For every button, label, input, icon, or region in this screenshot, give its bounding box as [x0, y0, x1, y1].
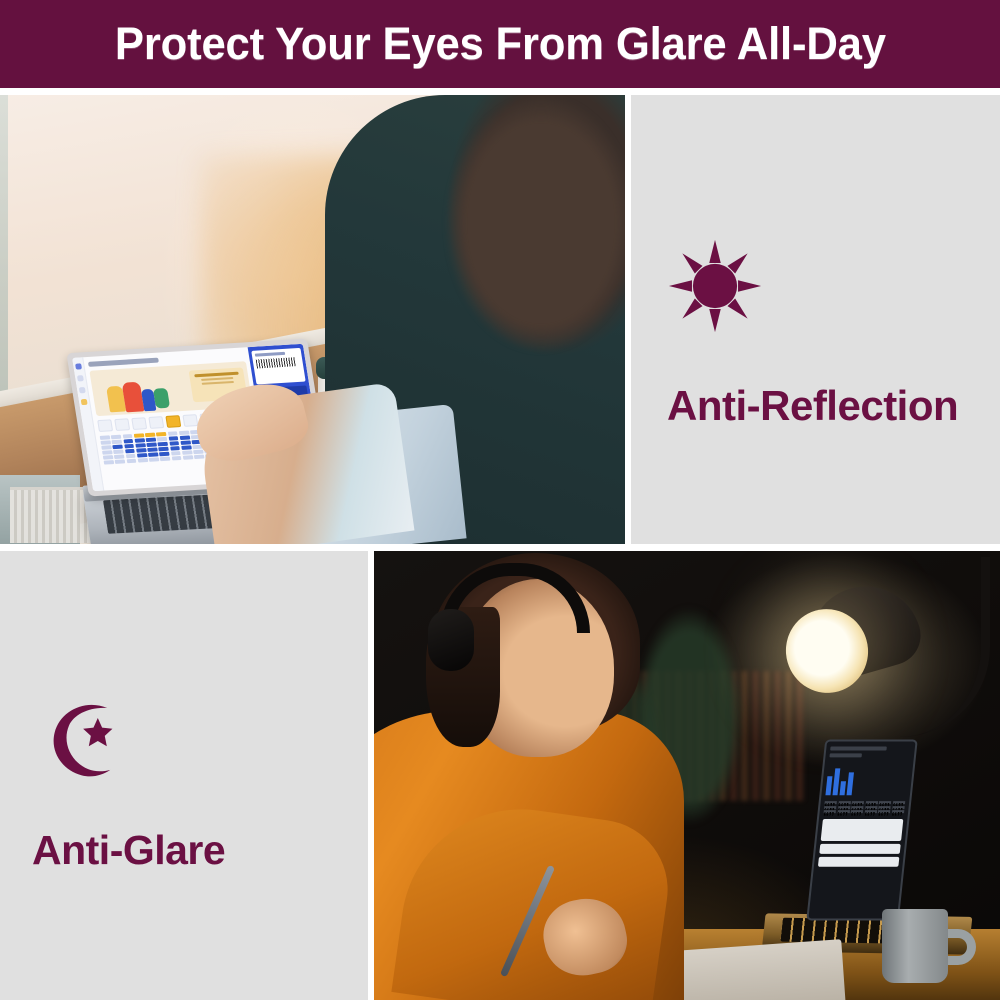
daytime-scene	[0, 95, 625, 544]
feature-label-anti-reflection: Anti-Reflection	[667, 382, 958, 430]
dashboard-card-secondary	[819, 844, 900, 854]
app-header-bar	[88, 358, 159, 367]
nighttime-scene	[374, 551, 1000, 1000]
product-feature-graphic: Protect Your Eyes From Glare All-Day	[0, 0, 1000, 1000]
page-title: Protect Your Eyes From Glare All-Day	[115, 18, 886, 70]
sun-icon	[667, 238, 958, 334]
person-nighttime	[374, 561, 704, 1000]
window-frame	[0, 95, 8, 395]
dashboard-calendar-grid	[824, 801, 906, 813]
person-hair	[397, 95, 625, 405]
dashboard-bar-chart	[825, 763, 909, 795]
dashboard-subtitle-bar	[829, 753, 862, 757]
app-ticket-stub	[251, 348, 305, 385]
feature-anti-reflection: Anti-Reflection	[667, 238, 958, 430]
dark-dashboard-ui	[813, 746, 911, 913]
header-banner: Protect Your Eyes From Glare All-Day	[0, 0, 1000, 88]
anti-glare-panel: Anti-Glare	[0, 551, 368, 1000]
dashboard-card-tertiary	[818, 857, 899, 867]
night-laptop-screen	[806, 739, 918, 920]
feature-anti-glare: Anti-Glare	[32, 687, 225, 874]
crescent-moon-star-icon	[32, 687, 225, 781]
dashboard-title-bar	[830, 746, 887, 750]
feature-label-anti-glare: Anti-Glare	[32, 827, 225, 874]
gray-mug	[882, 909, 948, 983]
daytime-laptop-photo	[0, 95, 625, 544]
anti-reflection-panel: Anti-Reflection	[631, 95, 1000, 544]
nighttime-study-photo	[374, 551, 1000, 1000]
headphones-earcup	[428, 609, 474, 671]
